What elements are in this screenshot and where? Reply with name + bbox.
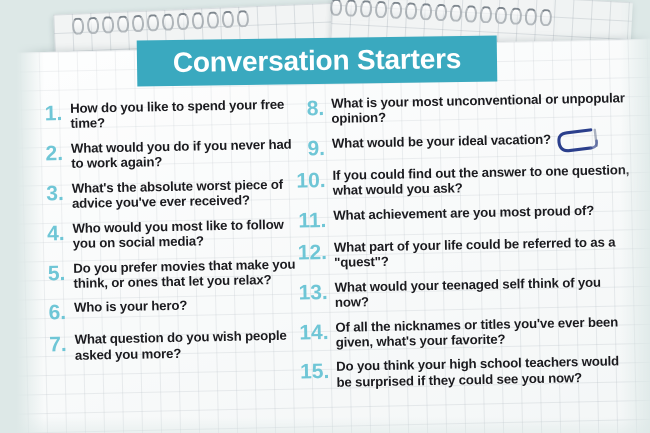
item-number: 10. [293,168,325,192]
paperclip-icon [555,125,602,156]
item-text: How do you like to spend your free time? [70,97,299,132]
spiral-ring-icon [87,17,100,35]
list-item[interactable]: 3. What's the absolute worst piece of ad… [38,176,301,212]
spiral-ring-icon [495,7,508,25]
item-number: 8. [292,96,324,120]
spiral-ring-icon [177,13,190,31]
spiral-ring-icon [480,6,493,24]
spiral-ring-icon [222,11,235,29]
item-text: What would be your ideal vacation? [332,132,551,152]
list-item[interactable]: 5. Do you prefer movies that make you th… [39,256,302,292]
item-number: 15. [297,359,329,383]
item-number: 12. [295,240,327,264]
item-number: 1. [36,101,62,124]
spiral-ring-icon [237,10,250,28]
item-text: Who is your hero? [74,298,187,316]
list-item[interactable]: 8. What is your most unconventional or u… [292,90,633,127]
spiral-ring-icon [117,15,130,33]
spiral-ring-icon [132,15,145,33]
list-item[interactable]: 2. What would you do if you never had to… [37,136,300,172]
spiral-ring-icon [524,8,537,26]
questions-column-left: 1. How do you like to spend your free ti… [36,97,303,373]
spiral-ring-icon [450,4,463,22]
item-number: 14. [296,319,328,343]
item-text: Do you think your high school teachers w… [336,353,638,390]
item-number: 9. [293,136,325,160]
item-text: What question do you wish people asked y… [74,328,303,363]
item-number: 7. [40,332,66,355]
page-title: Conversation Starters [173,43,462,79]
list-item[interactable]: 15. Do you think your high school teache… [297,353,638,390]
spiral-ring-icon [207,11,220,29]
item-number: 6. [40,300,66,323]
item-number: 4. [38,221,64,244]
list-item[interactable]: 12. What part of your life could be refe… [295,234,636,271]
list-item[interactable]: 10. If you could find out the answer to … [293,162,634,199]
item-number: 3. [38,181,64,204]
spiral-ring-icon [345,0,358,17]
spiral-ring-icon [360,0,373,18]
list-item[interactable]: 1. How do you like to spend your free ti… [36,97,299,133]
spiral-ring-icon [510,7,523,25]
spiral-ring-icon [162,13,175,31]
poster-canvas: Conversation Starters 1. How do you like… [0,0,650,433]
list-item[interactable]: 4. Who would you most like to follow you… [38,216,301,252]
item-text: What part of your life could be referred… [334,234,636,271]
spiral-ring-icon [72,17,85,35]
spiral-ring-icon [102,16,115,34]
item-text: What's the absolute worst piece of advic… [72,176,301,211]
list-item[interactable]: 14. Of all the nicknames or titles you'v… [296,314,637,351]
spiral-ring-icon [375,1,388,19]
item-text: What achievement are you most proud of? [333,203,594,223]
list-item[interactable]: 6. Who is your hero? [40,296,302,324]
item-text: What is your most unconventional or unpo… [331,90,633,127]
item-number: 13. [296,280,328,304]
item-number: 2. [37,141,63,164]
item-text: Of all the nicknames or titles you've ev… [335,314,637,351]
item-text: Do you prefer movies that make you think… [73,256,302,291]
item-text: If you could find out the answer to one … [332,162,634,199]
spiral-ring-icon [390,2,403,20]
item-text: What would your teenaged self think of y… [335,274,637,311]
spiral-ring-icon [420,3,433,21]
spiral-ring-icon [435,4,448,22]
spiral-ring-icon [405,2,418,20]
spiral-ring-icon [465,5,478,23]
item-number: 11. [294,208,326,232]
spiral-ring-icon [539,9,552,27]
title-banner: Conversation Starters [137,35,498,86]
list-item[interactable]: 7. What question do you wish people aske… [40,328,303,364]
item-number: 5. [39,261,65,284]
item-text: Who would you most like to follow you on… [72,216,301,251]
spiral-ring-icon [147,14,160,32]
list-item[interactable]: 13. What would your teenaged self think … [296,274,637,311]
list-item[interactable]: 11. What achievement are you most proud … [294,202,634,232]
questions-area: 1. How do you like to spend your free ti… [0,90,650,433]
item-text: What would you do if you never had to wo… [71,136,300,171]
spiral-ring-icon [330,0,343,16]
spiral-ring-icon [192,12,205,30]
